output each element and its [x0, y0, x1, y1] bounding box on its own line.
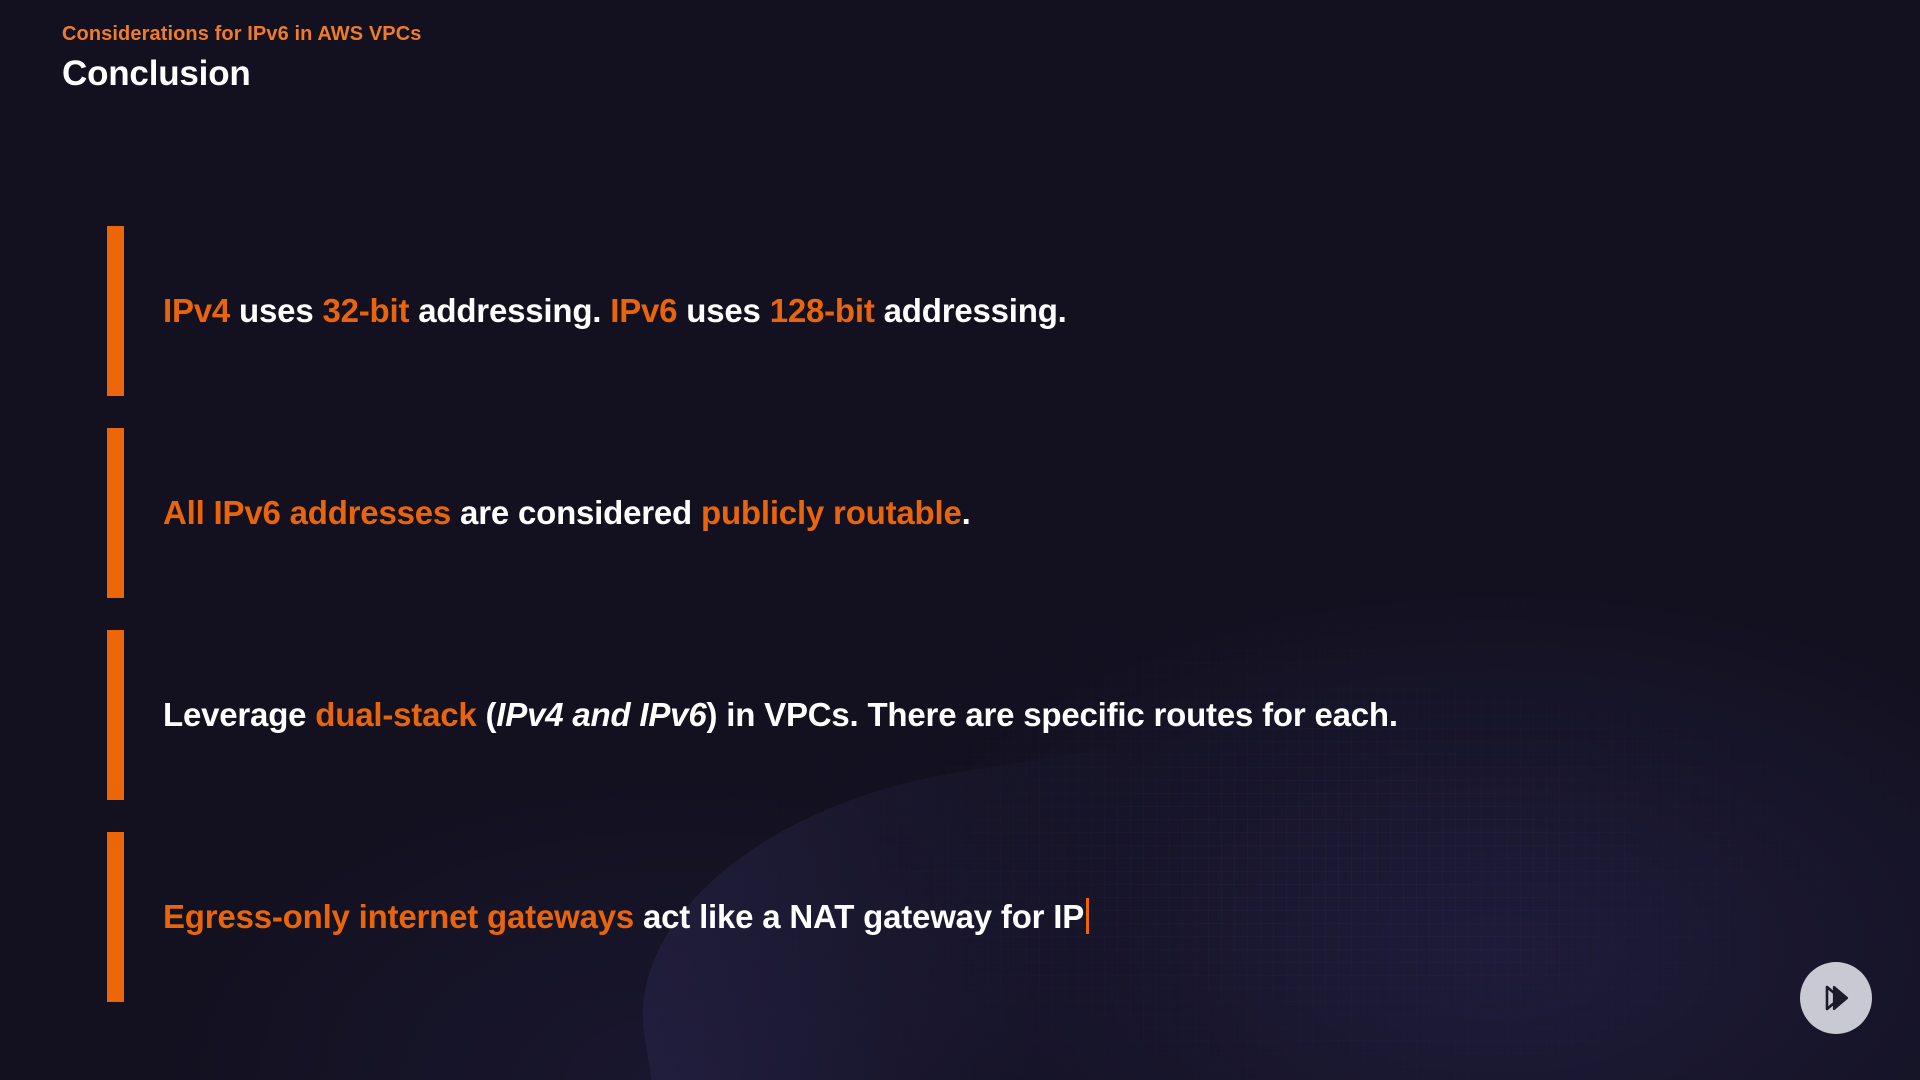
bullet-text-segment: IPv4 and IPv6 — [496, 696, 706, 733]
deck-eyebrow-title: Considerations for IPv6 in AWS VPCs — [62, 22, 422, 46]
bullet-item: Egress-only internet gateways act like a… — [107, 832, 1867, 1002]
bullet-text-segment: uses — [230, 292, 322, 329]
bullet-text-segment: are considered — [451, 494, 701, 531]
slide-header: Considerations for IPv6 in AWS VPCs Conc… — [62, 22, 422, 96]
bullet-item: IPv4 uses 32-bit addressing. IPv6 uses 1… — [107, 226, 1867, 396]
bullet-text-segment: uses — [677, 292, 769, 329]
bullet-text: Egress-only internet gateways act like a… — [107, 896, 1089, 937]
bullet-text-segment: ) in VPCs. There are specific routes for… — [706, 696, 1397, 733]
bullet-accent-bar — [107, 428, 124, 598]
bullet-text-segment: . — [962, 494, 971, 531]
bullet-text-segment: IPv6 — [610, 292, 677, 329]
bullet-text-segment: IPv4 — [163, 292, 230, 329]
bullet-list: IPv4 uses 32-bit addressing. IPv6 uses 1… — [107, 226, 1867, 1002]
bullet-text-segment: act like a NAT gateway for IP — [634, 898, 1084, 935]
page-title: Conclusion — [62, 52, 422, 96]
bullet-text-segment: 32-bit — [322, 292, 409, 329]
bullet-text-segment: addressing. — [409, 292, 610, 329]
bullet-text: IPv4 uses 32-bit addressing. IPv6 uses 1… — [107, 290, 1067, 331]
bullet-text: Leverage dual-stack (IPv4 and IPv6) in V… — [107, 694, 1398, 735]
bullet-text-segment: publicly routable — [701, 494, 962, 531]
bullet-item: Leverage dual-stack (IPv4 and IPv6) in V… — [107, 630, 1867, 800]
brand-badge[interactable] — [1800, 962, 1872, 1034]
bullet-text-segment: 128-bit — [770, 292, 875, 329]
bullet-text-segment: Leverage — [163, 696, 315, 733]
bullet-text-segment: dual-stack — [315, 696, 476, 733]
bullet-accent-bar — [107, 226, 124, 396]
bullet-text-segment: All IPv6 addresses — [163, 494, 451, 531]
bullet-item: All IPv6 addresses are considered public… — [107, 428, 1867, 598]
bullet-accent-bar — [107, 832, 124, 1002]
bullet-text: All IPv6 addresses are considered public… — [107, 492, 971, 533]
bullet-text-segment: ( — [477, 696, 497, 733]
bullet-text-segment: addressing. — [875, 292, 1067, 329]
double-play-triangle-icon — [1816, 978, 1856, 1018]
bullet-accent-bar — [107, 630, 124, 800]
bullet-text-segment: Egress-only internet gateways — [163, 898, 634, 935]
text-caret — [1086, 898, 1089, 934]
presentation-slide: Considerations for IPv6 in AWS VPCs Conc… — [0, 0, 1920, 1080]
